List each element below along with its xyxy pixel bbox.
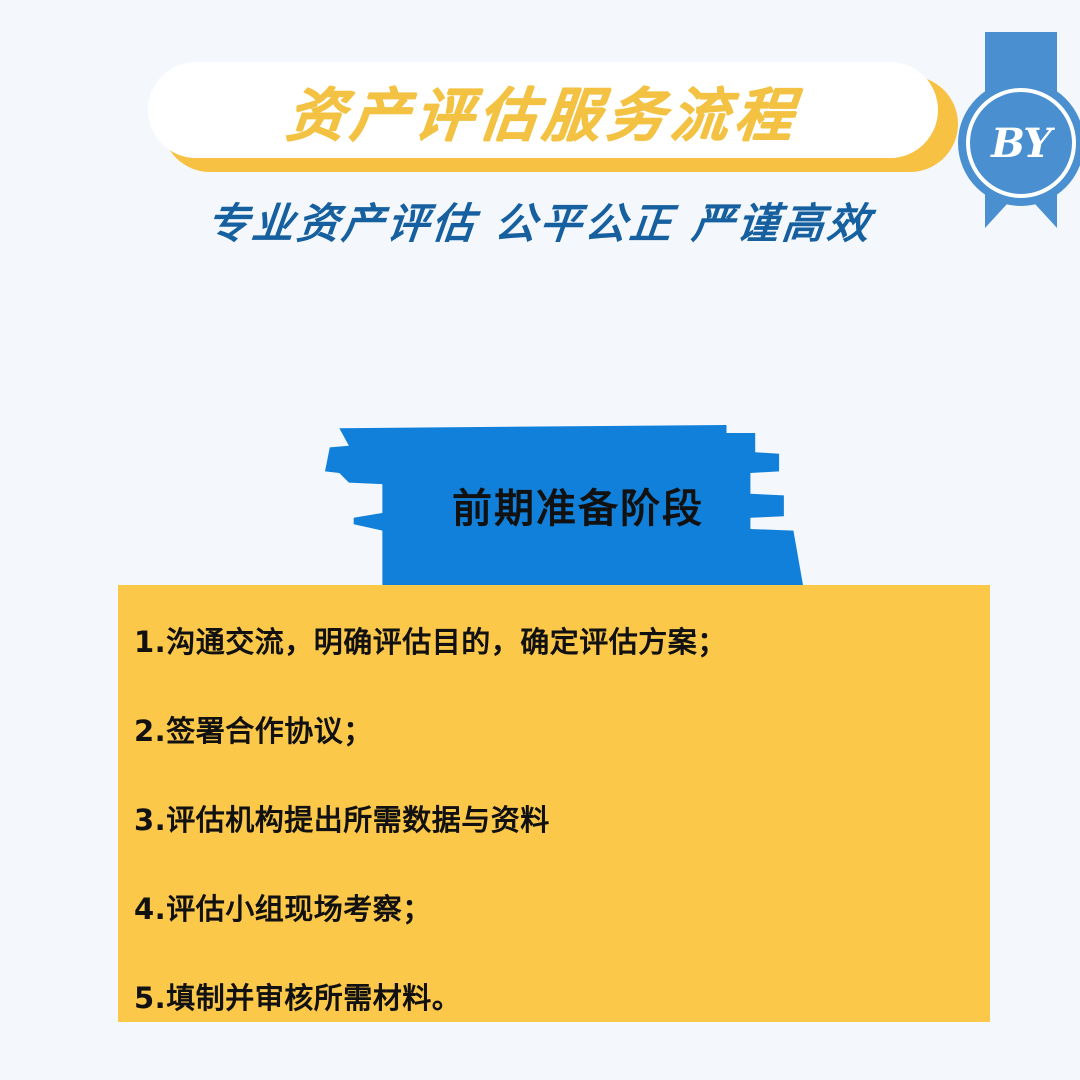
title-banner: 资产评估服务流程 bbox=[148, 62, 958, 172]
badge-circle-icon: BY bbox=[958, 80, 1080, 206]
list-item: 5.填制并审核所需材料。 bbox=[134, 975, 950, 1017]
steps-list: 1.沟通交流，明确评估目的，确定评估方案； 2.签署合作协议； 3.评估机构提出… bbox=[134, 619, 950, 1017]
list-item: 3.评估机构提出所需数据与资料 bbox=[134, 797, 950, 839]
ribbon-badge: BY bbox=[985, 32, 1057, 228]
steps-card: 1.沟通交流，明确评估目的，确定评估方案； 2.签署合作协议； 3.评估机构提出… bbox=[118, 585, 990, 1022]
infographic-page: 资产评估服务流程 专业资产评估 公平公正 严谨高效 BY 前期准备阶段 1.沟通… bbox=[0, 0, 1080, 1080]
list-item: 4.评估小组现场考察； bbox=[134, 886, 950, 928]
badge-label: BY bbox=[991, 120, 1051, 167]
stage-banner: 前期准备阶段 bbox=[325, 425, 803, 585]
page-subtitle: 专业资产评估 公平公正 严谨高效 bbox=[0, 190, 1080, 251]
stage-title: 前期准备阶段 bbox=[325, 425, 803, 585]
page-title: 资产评估服务流程 bbox=[283, 68, 804, 152]
title-pill: 资产评估服务流程 bbox=[148, 62, 938, 158]
list-item: 2.签署合作协议； bbox=[134, 708, 950, 750]
list-item: 1.沟通交流，明确评估目的，确定评估方案； bbox=[134, 619, 950, 661]
